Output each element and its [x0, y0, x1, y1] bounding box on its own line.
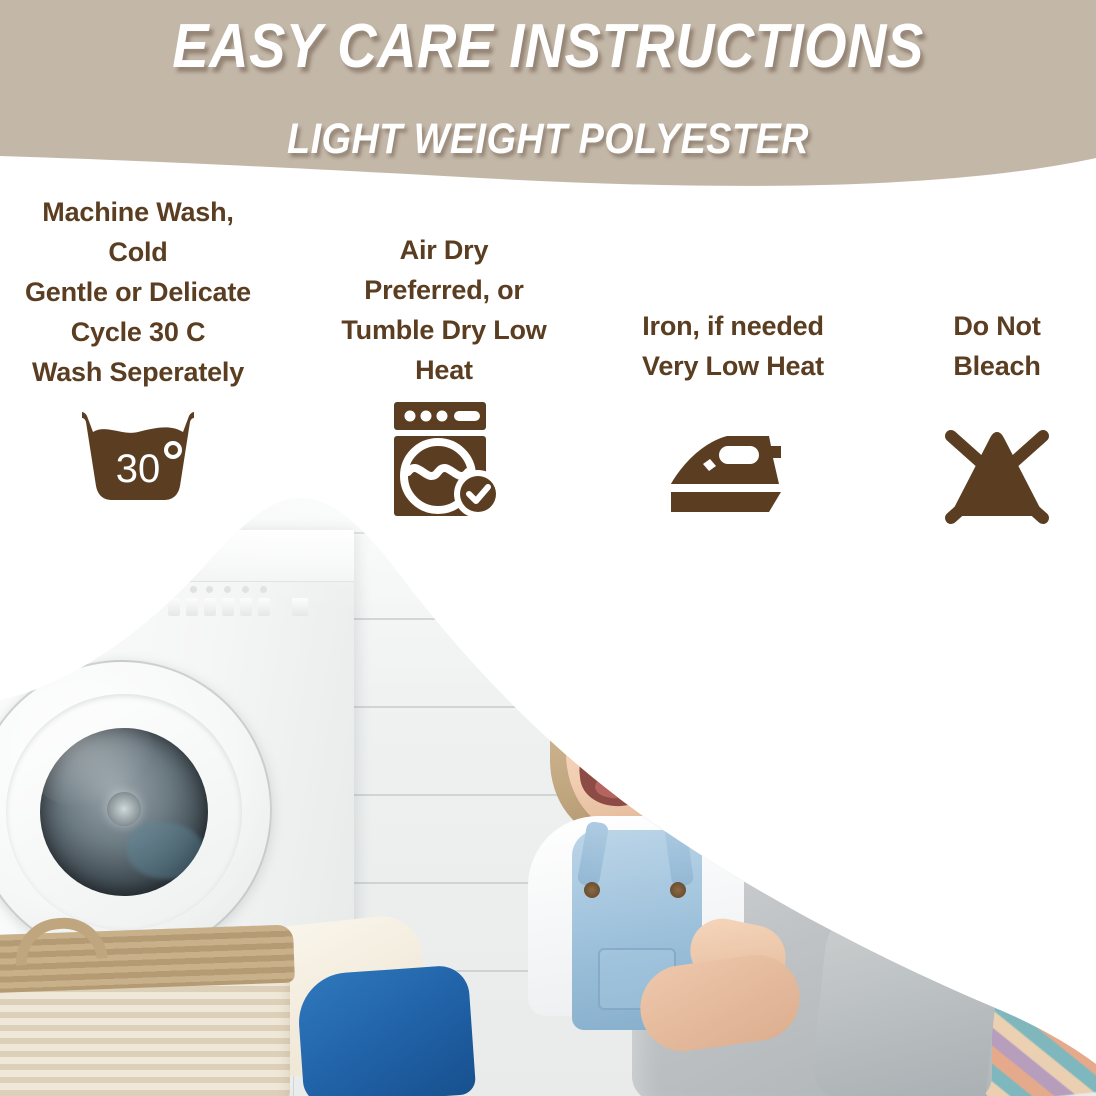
- mother-eye: [710, 664, 754, 676]
- wash-tub-30-icon: 30: [8, 410, 268, 502]
- child-teeth: [581, 741, 652, 761]
- mother-hairline: [678, 540, 874, 650]
- mother-hair: [670, 538, 875, 763]
- drum-laundry: [127, 822, 204, 879]
- wall-plank: [0, 532, 1096, 534]
- care-item-label: Machine Wash, Cold Gentle or Delicate Cy…: [8, 192, 268, 392]
- do-not-bleach-triangle-icon: [892, 424, 1096, 526]
- laundry-basket: [0, 940, 290, 1096]
- mother-neck: [732, 762, 828, 834]
- mother-eyebrow: [778, 637, 830, 648]
- washer-button: [168, 598, 180, 616]
- blue-laundry: [296, 964, 477, 1096]
- washer-button: [240, 598, 252, 616]
- care-item-bleach: Do Not Bleach: [892, 306, 1096, 526]
- header-band: [0, 0, 1096, 200]
- washer-power-button: [292, 598, 308, 616]
- wash-temperature-value: 30: [116, 447, 161, 491]
- washer-control-panel: [104, 582, 344, 624]
- cream-textile: [922, 592, 1096, 665]
- care-item-label: Iron, if needed Very Low Heat: [598, 306, 868, 386]
- washer-indicator-light: [224, 586, 231, 593]
- laundry-photo: [0, 470, 1096, 1096]
- mother-eye: [778, 661, 822, 670]
- wooden-shelf: [910, 607, 1096, 671]
- mother-sleeve: [810, 891, 1005, 1096]
- washer-button: [258, 598, 270, 616]
- child-tongue: [594, 770, 644, 801]
- overall-button: [670, 882, 686, 898]
- washer-indicator-light: [206, 586, 213, 593]
- mother-mouth: [732, 712, 812, 750]
- care-instructions-poster: EASY CARE INSTRUCTIONS LIGHT WEIGHT POLY…: [0, 0, 1096, 1096]
- care-item-iron: Iron, if needed Very Low Heat: [598, 306, 868, 514]
- drum-reflection: [40, 728, 158, 809]
- care-item-dry: Air Dry Preferred, or Tumble Dry Low Hea…: [308, 230, 580, 518]
- teal-textile: [920, 547, 1096, 663]
- care-item-label: Do Not Bleach: [892, 306, 1096, 386]
- washer-indicator-light: [174, 586, 181, 593]
- washer-indicator-light: [242, 586, 249, 593]
- drum-hub: [107, 792, 141, 826]
- overall-strap: [664, 821, 695, 887]
- washer-indicator-light: [190, 586, 197, 593]
- iron-icon: [598, 428, 868, 514]
- washer-button: [186, 598, 198, 616]
- care-instruction-row: Machine Wash, Cold Gentle or Delicate Cy…: [0, 178, 1096, 518]
- washer-door-glass: [40, 728, 208, 896]
- washer-button: [204, 598, 216, 616]
- mother-teeth: [732, 712, 812, 728]
- detergent-drawer: [0, 588, 66, 614]
- mother-eyebrow: [706, 639, 759, 653]
- washer-door: [0, 660, 272, 960]
- washer-door-ring: [6, 694, 242, 930]
- mother-hair-bun: [816, 622, 882, 694]
- tumble-dryer-check-icon: [308, 400, 580, 518]
- washer-display: [114, 591, 160, 613]
- overall-button: [584, 882, 600, 898]
- mother-face: [696, 582, 854, 782]
- care-item-wash: Machine Wash, Cold Gentle or Delicate Cy…: [8, 192, 268, 502]
- child-eye: [632, 708, 666, 718]
- mother-and-child: [520, 530, 990, 1096]
- care-item-label: Air Dry Preferred, or Tumble Dry Low Hea…: [308, 230, 580, 390]
- washer-top-surface: [0, 530, 354, 582]
- child-face: [566, 662, 692, 830]
- child-eye: [578, 713, 613, 725]
- washer-indicator-light: [260, 586, 267, 593]
- washer-button: [222, 598, 234, 616]
- wicker-basket: [932, 790, 1082, 980]
